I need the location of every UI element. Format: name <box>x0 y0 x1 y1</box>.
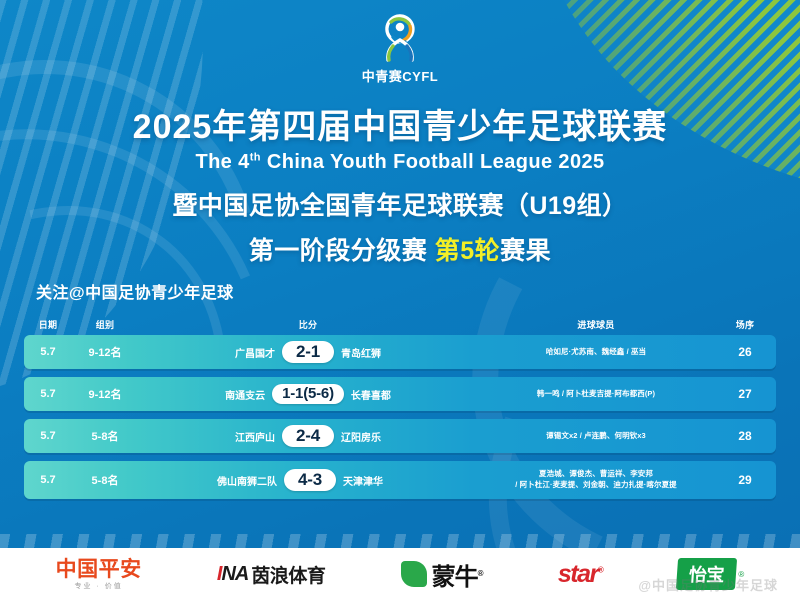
row-group: 9-12名 <box>72 386 138 402</box>
logo-wordmark: 中青赛CYFL <box>362 66 438 85</box>
sponsor-ina-name: 茵浪体育 <box>251 561 325 588</box>
mengniu-leaf-icon <box>401 561 427 587</box>
sponsor-star-word: star <box>558 560 598 588</box>
sponsor-star: star® <box>558 560 602 589</box>
poster-root: 中青赛CYFL 2025年第四届中国青少年足球联赛 The 4th China … <box>0 0 800 600</box>
main-title-en: The 4th China Youth Football League 2025 <box>0 151 800 174</box>
row-score-cell: 江西庐山2-4辽阳房乐 <box>138 425 478 448</box>
score-pill: 1-1(5-6) <box>272 384 344 405</box>
sponsor-mengniu-reg: ® <box>478 569 483 578</box>
sponsor-mengniu-name: 蒙牛® <box>432 557 483 592</box>
round-suffix: 赛果 <box>500 237 551 265</box>
header-date: 日期 <box>24 318 72 331</box>
table-row: 5.79-12名广昌国才2-1青岛红狮哈如尼·尤苏南、魏经鑫 / 巫当26 <box>24 335 776 369</box>
sponsor-ina: INA 茵浪体育 <box>217 561 325 588</box>
table-row: 5.75-8名佛山南狮二队4-3天津津华夏浩城、谭俊杰、曹运祥、李安邦 / 阿卜… <box>24 461 776 499</box>
table-header-row: 日期 组别 比分 进球球员 场序 <box>24 313 776 335</box>
sponsor-star-reg: ® <box>598 565 602 574</box>
header-score: 比分 <box>138 318 478 331</box>
score-pill: 4-3 <box>284 469 336 492</box>
matchup: 广昌国才2-1青岛红狮 <box>138 341 478 364</box>
home-team: 广昌国才 <box>219 345 275 360</box>
row-scorers: 谭锡文x2 / 卢连鹏、何明钦x3 <box>478 431 714 442</box>
away-team: 长春喜都 <box>351 387 407 402</box>
sponsor-mengniu: 蒙牛® <box>401 557 483 592</box>
title-en-prefix: The 4 <box>195 151 249 173</box>
sponsor-mengniu-cn: 蒙牛 <box>432 564 478 591</box>
sponsor-pingan: 中国平安 专业 · 价值 <box>56 559 142 590</box>
brand-logo: 中青赛CYFL <box>0 10 800 85</box>
table-row: 5.75-8名江西庐山2-4辽阳房乐谭锡文x2 / 卢连鹏、何明钦x328 <box>24 419 776 453</box>
table-body: 5.79-12名广昌国才2-1青岛红狮哈如尼·尤苏南、魏经鑫 / 巫当265.7… <box>24 335 776 499</box>
title-en-rest: China Youth Football League 2025 <box>267 151 605 173</box>
bottom-stripe-decoration <box>0 534 800 548</box>
row-date: 5.7 <box>24 388 72 400</box>
sponsor-pingan-tagline: 专业 · 价值 <box>75 583 123 590</box>
header-order: 场序 <box>714 318 776 331</box>
row-scorers: 韩一鸣 / 阿卜杜麦吉提·阿布都西(P) <box>478 389 714 400</box>
sponsor-star-name: star® <box>558 560 602 589</box>
header-scorer: 进球球员 <box>478 318 714 331</box>
subtitle-cn: 暨中国足协全国青年足球联赛（U19组） <box>0 186 800 222</box>
sponsor-ina-mark-rest: NA <box>221 563 248 585</box>
cyfl-football-logo-icon <box>369 10 431 64</box>
home-team: 佛山南狮二队 <box>217 473 277 488</box>
matchup: 佛山南狮二队4-3天津津华 <box>138 469 478 492</box>
matchup: 南通支云1-1(5-6)长春喜都 <box>138 384 478 405</box>
row-order: 27 <box>714 387 776 401</box>
row-group: 9-12名 <box>72 344 138 360</box>
row-date: 5.7 <box>24 474 72 486</box>
home-team: 江西庐山 <box>219 429 275 444</box>
row-date: 5.7 <box>24 346 72 358</box>
row-order: 29 <box>714 473 776 487</box>
home-team: 南通支云 <box>209 387 265 402</box>
sponsor-ina-mark: INA <box>217 563 248 586</box>
score-pill: 2-4 <box>282 425 334 448</box>
score-pill: 2-1 <box>282 341 334 364</box>
watermark: @中国足协青少年足球 <box>638 575 778 594</box>
row-scorers: 夏浩城、谭俊杰、曹运祥、李安邦 / 阿卜杜江·麦麦提、刘金朝、迪力扎提·喀尔夏提 <box>478 469 714 491</box>
round-title: 第一阶段分级赛 第5轮赛果 <box>0 231 800 267</box>
row-order: 26 <box>714 345 776 359</box>
row-score-cell: 广昌国才2-1青岛红狮 <box>138 341 478 364</box>
title-block: 2025年第四届中国青少年足球联赛 The 4th China Youth Fo… <box>0 108 800 267</box>
away-team: 青岛红狮 <box>341 345 397 360</box>
title-en-ordinal: th <box>250 151 261 163</box>
row-score-cell: 南通支云1-1(5-6)长春喜都 <box>138 384 478 405</box>
round-prefix: 第一阶段分级赛 <box>249 237 428 265</box>
row-date: 5.7 <box>24 430 72 442</box>
matchup: 江西庐山2-4辽阳房乐 <box>138 425 478 448</box>
away-team: 辽阳房乐 <box>341 429 397 444</box>
row-order: 28 <box>714 429 776 443</box>
row-group: 5-8名 <box>72 428 138 444</box>
main-title-cn: 2025年第四届中国青少年足球联赛 <box>0 108 800 146</box>
follow-handle: 关注@中国足协青少年足球 <box>36 279 234 303</box>
row-group: 5-8名 <box>72 472 138 488</box>
row-score-cell: 佛山南狮二队4-3天津津华 <box>138 469 478 492</box>
sponsor-pingan-name: 中国平安 <box>56 559 142 580</box>
table-row: 5.79-12名南通支云1-1(5-6)长春喜都韩一鸣 / 阿卜杜麦吉提·阿布都… <box>24 377 776 411</box>
results-table: 日期 组别 比分 进球球员 场序 5.79-12名广昌国才2-1青岛红狮哈如尼·… <box>24 313 776 499</box>
header-group: 组别 <box>72 318 138 331</box>
round-highlight: 第5轮 <box>435 237 500 265</box>
away-team: 天津津华 <box>343 473 399 488</box>
row-scorers: 哈如尼·尤苏南、魏经鑫 / 巫当 <box>478 347 714 358</box>
